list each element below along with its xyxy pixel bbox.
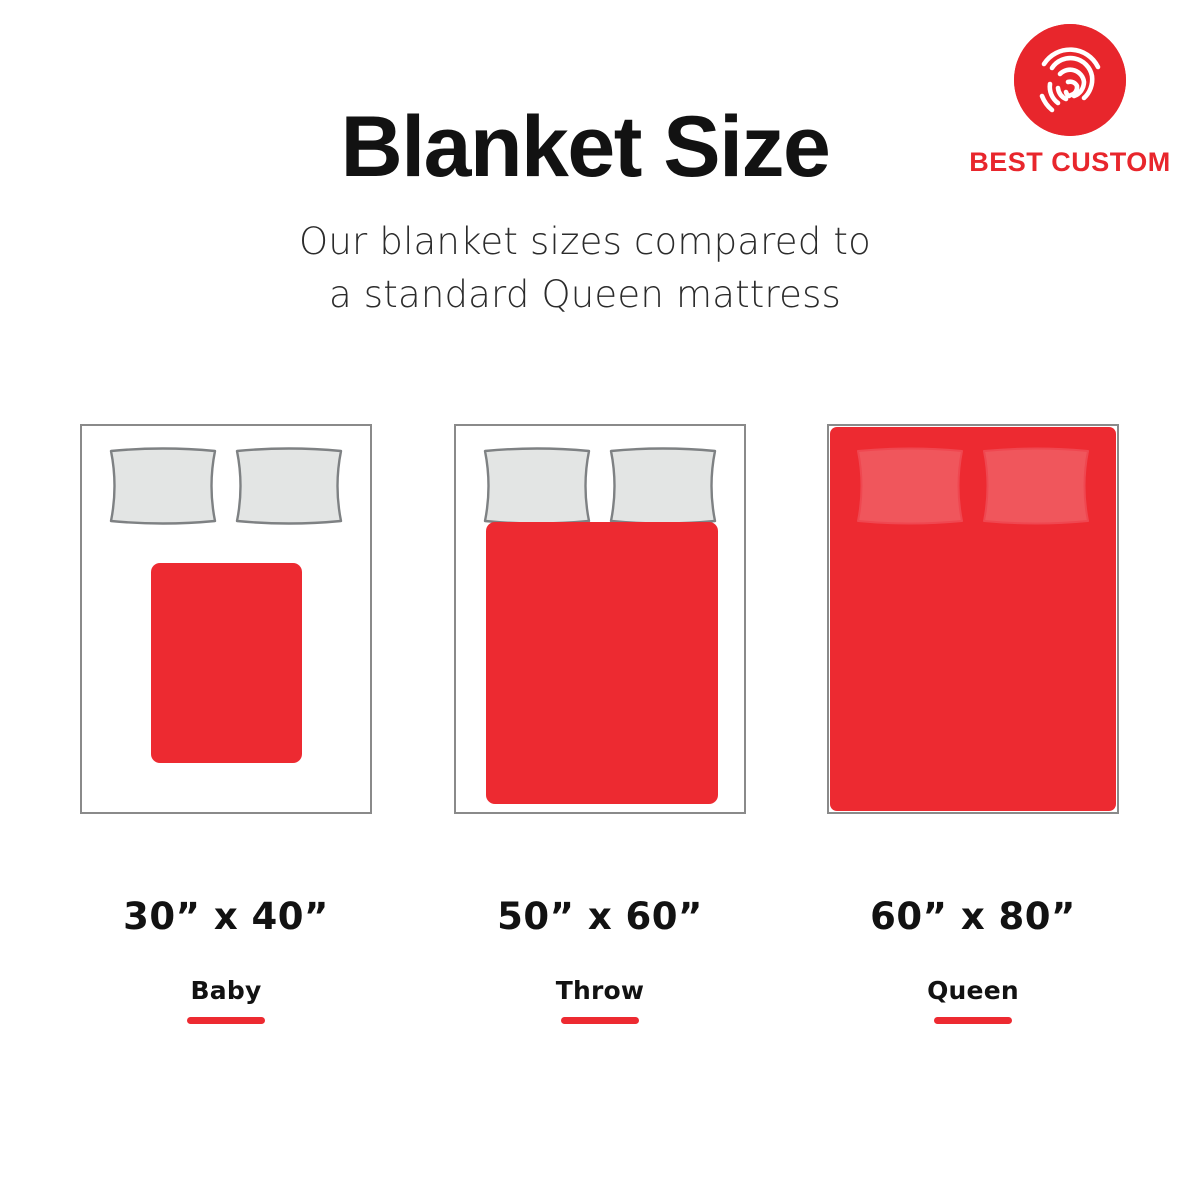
- size-name-label: Queen: [827, 978, 1119, 1003]
- caption-throw: 50” x 60” Throw: [454, 898, 746, 1024]
- pillow-icon: [604, 446, 722, 526]
- subtitle-line-2: a standard Queen mattress: [0, 269, 1170, 322]
- bed-diagram-baby: [80, 424, 372, 814]
- accent-underline: [561, 1017, 639, 1024]
- size-name-label: Baby: [80, 978, 372, 1003]
- blanket-swatch-throw: [486, 522, 718, 804]
- pillow-icon: [230, 446, 348, 526]
- blanket-swatch-baby: [151, 563, 302, 763]
- bed-diagram-queen: [827, 424, 1119, 814]
- bed-diagram-throw: [454, 424, 746, 814]
- page-subtitle: Our blanket sizes compared to a standard…: [0, 216, 1170, 321]
- dimension-label: 50” x 60”: [454, 898, 746, 935]
- caption-queen: 60” x 80” Queen: [827, 898, 1119, 1024]
- accent-underline: [187, 1017, 265, 1024]
- heading-block: Blanket Size Our blanket sizes compared …: [0, 104, 1200, 321]
- caption-baby: 30” x 40” Baby: [80, 898, 372, 1024]
- pillow-icon: [478, 446, 596, 526]
- dimension-label: 60” x 80”: [827, 898, 1119, 935]
- captions-row: 30” x 40” Baby 50” x 60” Throw 60” x 80”…: [0, 898, 1200, 1058]
- bed-comparison-row: [0, 424, 1200, 824]
- accent-underline: [934, 1017, 1012, 1024]
- subtitle-line-1: Our blanket sizes compared to: [0, 216, 1170, 269]
- page-title: Blanket Size: [0, 104, 1170, 190]
- pillow-icon: [977, 446, 1095, 526]
- dimension-label: 30” x 40”: [80, 898, 372, 935]
- pillow-icon: [851, 446, 969, 526]
- pillow-icon: [104, 446, 222, 526]
- size-name-label: Throw: [454, 978, 746, 1003]
